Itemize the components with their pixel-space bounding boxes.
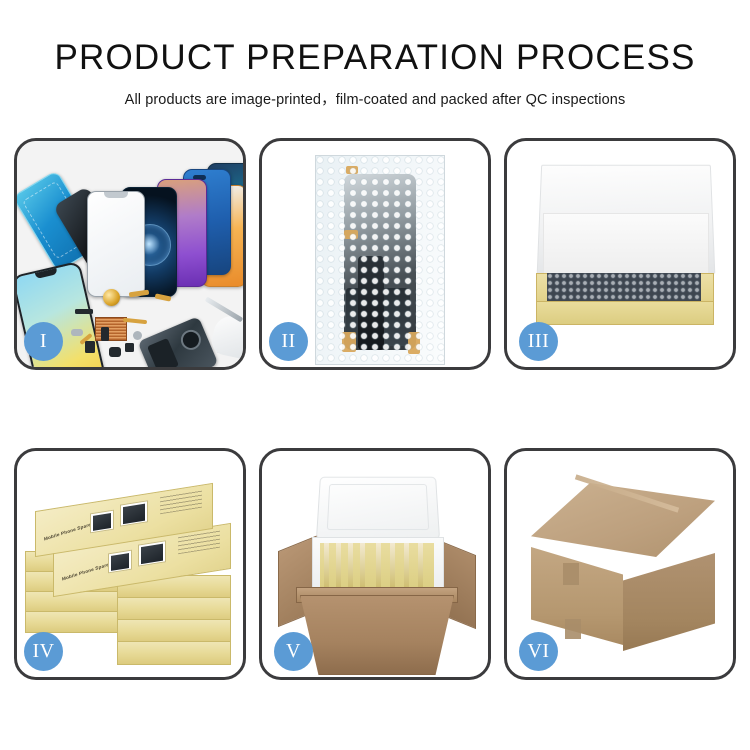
step-badge-2: II	[269, 322, 308, 361]
box-window-front-2	[138, 540, 166, 566]
stacked-box-l3	[25, 591, 131, 613]
bubble-wrap-bag	[315, 155, 445, 365]
chip-component-2	[85, 341, 95, 353]
page-title: PRODUCT PREPARATION PROCESS	[0, 40, 750, 77]
step-panel-1: I	[14, 138, 246, 370]
step-badge-5: V	[274, 632, 313, 671]
yellow-box-front-panel	[536, 301, 714, 325]
packed-yellow-boxes	[320, 543, 434, 587]
stacked-box-r3	[117, 619, 231, 643]
carton-tab-lower	[565, 619, 581, 639]
page-header: PRODUCT PREPARATION PROCESS All products…	[0, 0, 750, 109]
chip-component-4	[125, 343, 134, 352]
step-panel-5: V	[259, 448, 491, 680]
box-spec-lines-back	[160, 490, 202, 515]
step-panel-2: II	[259, 138, 491, 370]
metal-bracket-2	[133, 331, 142, 340]
carton-tab-upper	[563, 563, 579, 585]
bubble-wrap-filling	[547, 273, 701, 303]
chip-component-3	[109, 347, 121, 357]
box-window-back-2	[120, 500, 148, 526]
foam-cooler-lid	[316, 477, 440, 540]
metal-bracket-1	[71, 329, 83, 336]
gold-coil-part	[103, 289, 120, 306]
step-badge-1: I	[24, 322, 63, 361]
step-panel-3: III	[504, 138, 736, 370]
step-panel-4: Mobile Phone Spare Parts Mobile Phone Sp…	[14, 448, 246, 680]
step-badge-3: III	[519, 322, 558, 361]
stacked-box-r2	[117, 597, 231, 621]
step-panel-6: VI	[504, 448, 736, 680]
step-badge-4: IV	[24, 632, 63, 671]
white-foam-sheet	[543, 213, 709, 279]
stacked-box-l4	[25, 611, 131, 633]
chip-component-1	[75, 309, 93, 314]
stacked-box-r4	[117, 641, 231, 665]
screen-protector-glass	[87, 191, 145, 297]
step-badge-6: VI	[519, 632, 558, 671]
process-steps-grid: I II III	[14, 138, 736, 680]
box-window-front-1	[108, 550, 132, 574]
bubble-texture	[316, 156, 444, 364]
carton-body	[300, 595, 454, 675]
page-subtitle: All products are image-printed，film-coat…	[0, 88, 750, 109]
chip-component-5	[101, 327, 109, 341]
box-window-back-1	[90, 510, 114, 534]
